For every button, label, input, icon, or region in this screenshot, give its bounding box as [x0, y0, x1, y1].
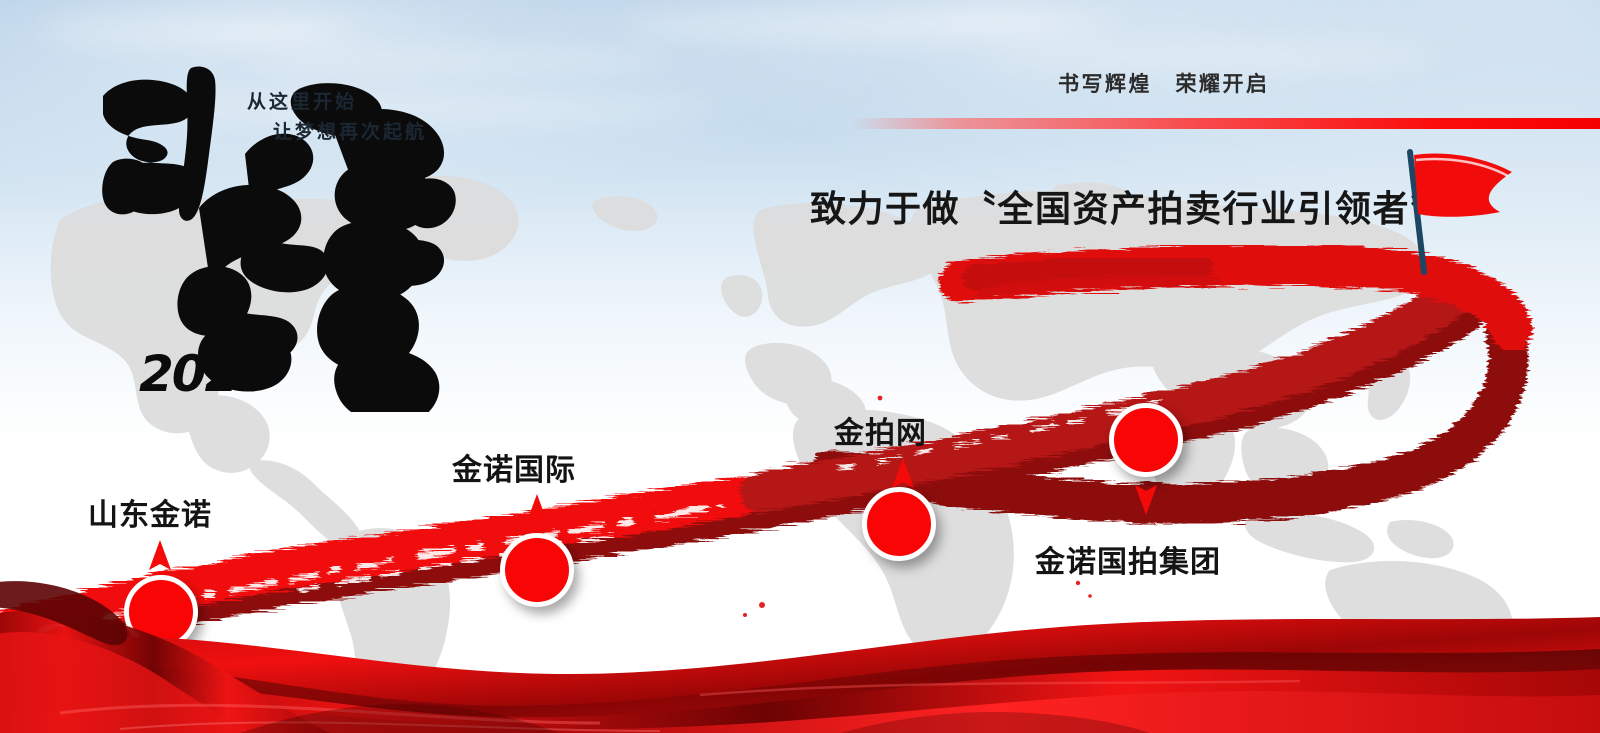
milestone-arrow-up-2 [890, 456, 916, 490]
milestone-arrow-up-1 [524, 492, 550, 526]
milestone-label-2: 金拍网 [834, 408, 927, 452]
milestone-node-3[interactable] [1109, 403, 1183, 477]
silk-ribbon-icon [0, 523, 1600, 733]
milestone-label-1: 金诺国际 [452, 445, 576, 489]
milestone-arrow-down-3 [1133, 483, 1159, 517]
poster-canvas: 书写辉煌 荣耀开启 致力于做〝全国资产拍卖行业引领者〞 [0, 0, 1600, 733]
